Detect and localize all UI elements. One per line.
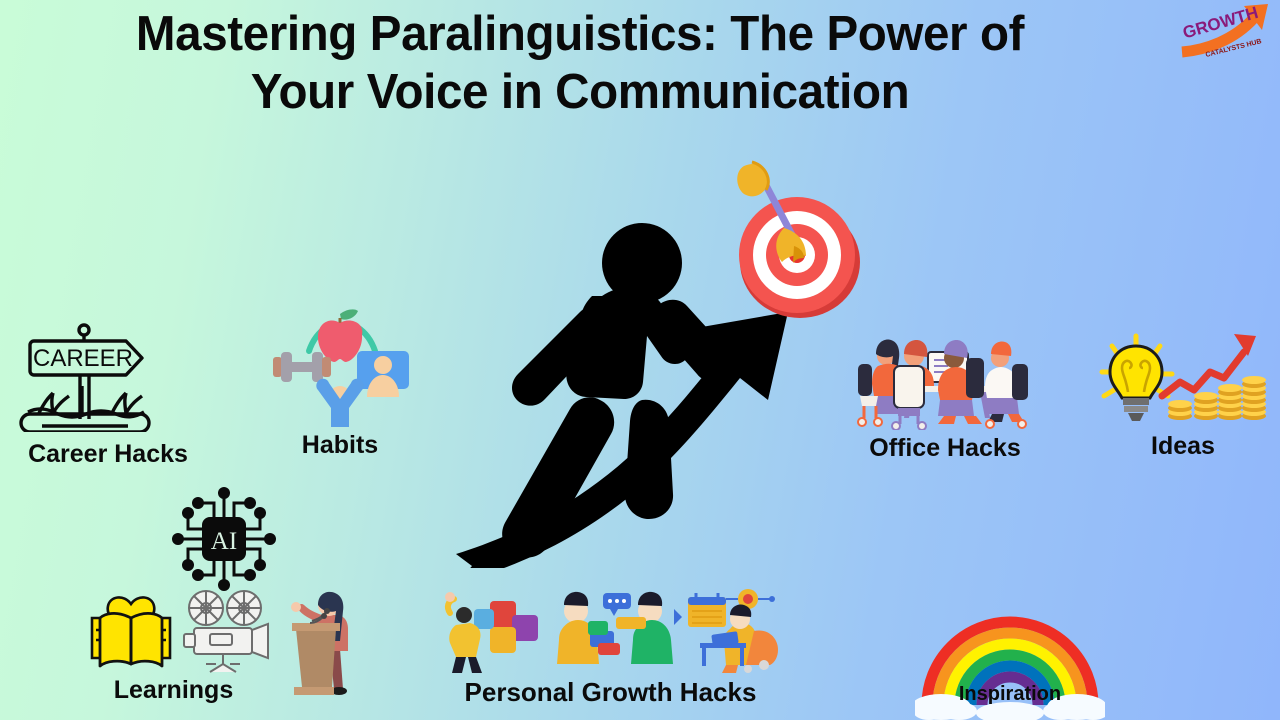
topic-label-ideas: Ideas <box>1098 432 1268 461</box>
ai-chip-icon: AI <box>172 487 276 591</box>
habits-wellness-icon <box>265 305 415 427</box>
topic-personal-growth-hacks[interactable]: Personal Growth Hacks <box>438 585 783 708</box>
ai-chip-text: AI <box>211 528 237 555</box>
topic-label-office-hacks: Office Hacks <box>850 434 1040 463</box>
career-sign-text: CAREER <box>33 345 133 372</box>
topic-ideas[interactable]: Ideas <box>1098 330 1268 461</box>
page-title-line-2: Your Voice in Communication <box>17 64 1142 122</box>
topic-label-habits: Habits <box>265 431 415 460</box>
topic-career-hacks[interactable]: CAREER Career Hacks <box>8 322 208 469</box>
growth-catalysts-hub-logo-icon: GROWTH CATALYSTS HUB <box>1176 0 1276 62</box>
topic-label-learnings: Learnings <box>86 676 261 705</box>
people-collaboration-icon <box>438 585 783 677</box>
topic-habits[interactable]: Habits <box>265 305 415 460</box>
page-title: Mastering Paralinguistics: The Power of … <box>17 6 1142 122</box>
topic-label-inspiration: Inspiration <box>915 683 1105 706</box>
topic-label-personal-growth-hacks: Personal Growth Hacks <box>438 677 783 708</box>
film-projector-decor <box>180 588 280 680</box>
office-meeting-icon <box>850 330 1040 430</box>
career-signpost-icon: CAREER <box>8 322 208 432</box>
dartboard-with-arrow-icon <box>722 160 872 320</box>
lightbulb-growth-icon <box>1098 330 1268 430</box>
brand-logo[interactable]: GROWTH CATALYSTS HUB <box>1176 0 1276 62</box>
page-title-line-1: Mastering Paralinguistics: The Power of <box>17 6 1142 64</box>
target-decor <box>722 160 872 320</box>
open-book-icon <box>86 592 176 678</box>
topic-office-hacks[interactable]: Office Hacks <box>850 330 1040 463</box>
poster-canvas: Mastering Paralinguistics: The Power of … <box>0 0 1280 720</box>
podium-speaker-decor <box>282 583 358 703</box>
film-projector-icon <box>180 588 280 680</box>
topic-label-career-hacks: Career Hacks <box>8 440 208 469</box>
speaker-at-podium-icon <box>282 583 358 703</box>
ai-chip-decor: AI <box>172 487 276 591</box>
